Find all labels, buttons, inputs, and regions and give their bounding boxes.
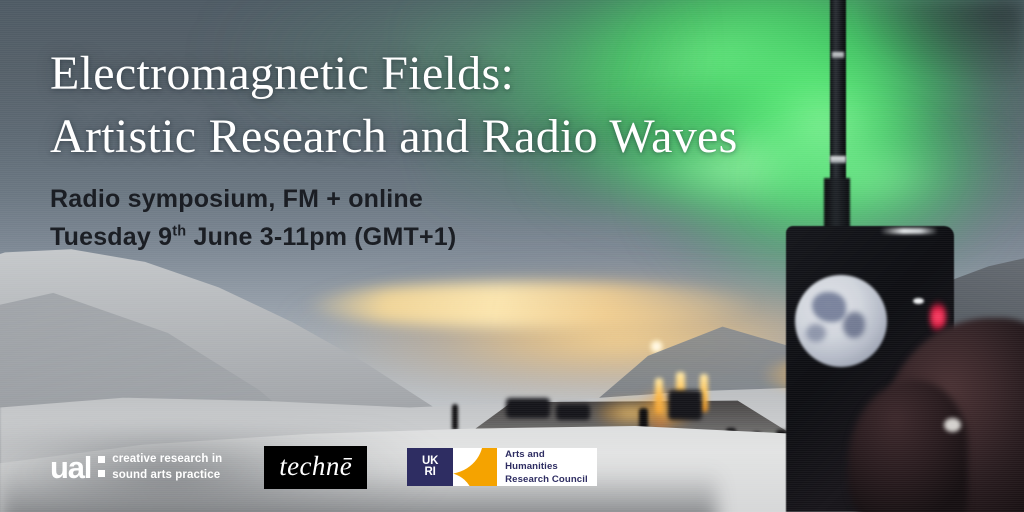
date-prefix: Tuesday 9: [50, 223, 172, 251]
page-title: Electromagnetic Fields: Artistic Researc…: [50, 42, 840, 169]
title-line-1: Electromagnetic Fields:: [50, 42, 840, 105]
ahrc-name: Arts and Humanities Research Council: [497, 448, 597, 486]
techne-wordmark: technē: [279, 453, 352, 480]
techne-logo: technē: [264, 446, 367, 489]
ahrc-fan-mark-icon: [453, 448, 497, 486]
ahrc-name-line-1: Arts and: [505, 449, 588, 461]
sunset-cloud: [307, 282, 758, 328]
ahrc-name-line-2: Humanities: [505, 461, 588, 473]
antenna-base: [824, 178, 850, 232]
device-edge-highlight: [913, 298, 924, 304]
truck-silhouette: [668, 390, 702, 420]
globe-continent-shape: [812, 292, 846, 322]
ual-colon-icon: [98, 456, 105, 479]
subtitle-format-line: Radio symposium, FM + online: [50, 180, 690, 218]
ukri-letters: UK RI: [422, 456, 438, 479]
ual-wordmark: ual: [50, 452, 91, 483]
ual-strapline-line-2: sound arts practice: [112, 468, 222, 482]
globe-continent-shape: [806, 324, 826, 342]
pole-silhouette: [452, 404, 458, 430]
globe-continent-shape: [843, 312, 865, 338]
ahrc-name-line-3: Research Council: [505, 474, 588, 486]
parked-vehicle: [556, 404, 590, 420]
ual-logo: ual creative research in sound arts prac…: [50, 450, 222, 484]
title-line-2: Artistic Research and Radio Waves: [50, 105, 840, 168]
subtitle-date-line: Tuesday 9th June 3-11pm (GMT+1): [50, 218, 690, 256]
date-suffix: June 3-11pm (GMT+1): [186, 223, 456, 251]
ukri-mark-icon: UK RI: [407, 448, 453, 486]
ahrc-ukri-logo: UK RI Arts and Humanities Research Counc…: [407, 448, 597, 486]
funder-logo-bar: ual creative research in sound arts prac…: [50, 447, 597, 487]
parked-vehicle: [506, 398, 550, 418]
ukri-line-2: RI: [425, 467, 436, 479]
ual-strapline: creative research in sound arts practice: [112, 452, 222, 482]
ual-strapline-line-1: creative research in: [112, 452, 222, 466]
hand-highlight: [944, 418, 961, 432]
device-top-highlight: [880, 228, 938, 234]
globe-sticker-icon: [795, 275, 887, 367]
event-poster: Electromagnetic Fields: Artistic Researc…: [0, 0, 1024, 512]
date-ordinal-suffix: th: [172, 224, 186, 240]
event-details: Radio symposium, FM + online Tuesday 9th…: [50, 180, 690, 256]
